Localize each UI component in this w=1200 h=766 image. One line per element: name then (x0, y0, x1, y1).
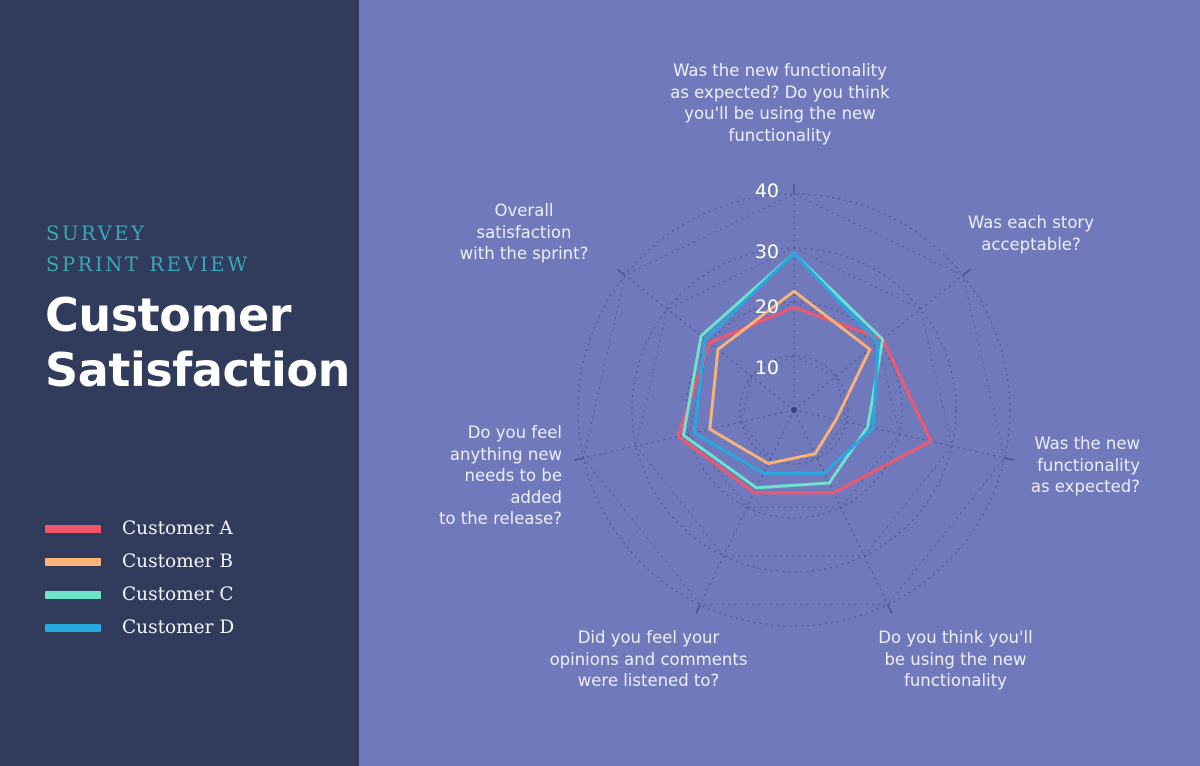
axis-label-left: Do you feel anything new needs to be add… (414, 422, 562, 530)
rtick-20: 20 (714, 296, 779, 318)
rtick-10: 10 (714, 357, 779, 379)
infographic-root: SURVEY SPRINT REVIEW Customer Satisfacti… (0, 0, 1200, 766)
legend-item[interactable]: Customer B (45, 545, 335, 578)
legend: Customer A Customer B Customer C Custome… (45, 512, 335, 644)
eyebrow-heading: SURVEY SPRINT REVIEW (46, 218, 346, 280)
legend-label: Customer A (122, 518, 233, 539)
legend-swatch-icon (45, 525, 101, 533)
legend-label: Customer D (122, 617, 234, 638)
legend-swatch-icon (45, 591, 101, 599)
radar-center-dot (791, 407, 797, 413)
axis-tick (618, 269, 626, 275)
axis-tick (574, 458, 584, 460)
radar-chart-area: 40 30 20 10 Was the new functionality as… (359, 0, 1200, 766)
legend-item[interactable]: Customer C (45, 578, 335, 611)
axis-label-upper-left: Overall satisfaction with the sprint? (444, 200, 604, 265)
legend-item[interactable]: Customer D (45, 611, 335, 644)
legend-label: Customer C (122, 584, 234, 605)
axis-label-top: Was the new functionality as expected? D… (650, 60, 910, 146)
axis-label-lower-left: Did you feel your opinions and comments … (526, 627, 771, 692)
legend-item[interactable]: Customer A (45, 512, 335, 545)
eyebrow-line-2: SPRINT REVIEW (46, 249, 346, 280)
axis-label-upper-right: Was each story acceptable? (937, 212, 1125, 255)
axis-label-lower-right: Do you think you'll be using the new fun… (848, 627, 1063, 692)
axis-label-right: Was the new functionality as expected? (960, 433, 1140, 498)
axis-tick (888, 605, 892, 614)
grid-spoke (583, 410, 794, 458)
sidebar-panel: SURVEY SPRINT REVIEW Customer Satisfacti… (0, 0, 359, 766)
axis-tick (696, 605, 700, 614)
rtick-40: 40 (714, 180, 779, 202)
eyebrow-line-1: SURVEY (46, 218, 346, 249)
rtick-30: 30 (714, 241, 779, 263)
page-title: Customer Satisfaction (45, 288, 355, 398)
legend-swatch-icon (45, 624, 101, 632)
legend-swatch-icon (45, 558, 101, 566)
legend-label: Customer B (122, 551, 233, 572)
axis-tick (963, 269, 971, 275)
